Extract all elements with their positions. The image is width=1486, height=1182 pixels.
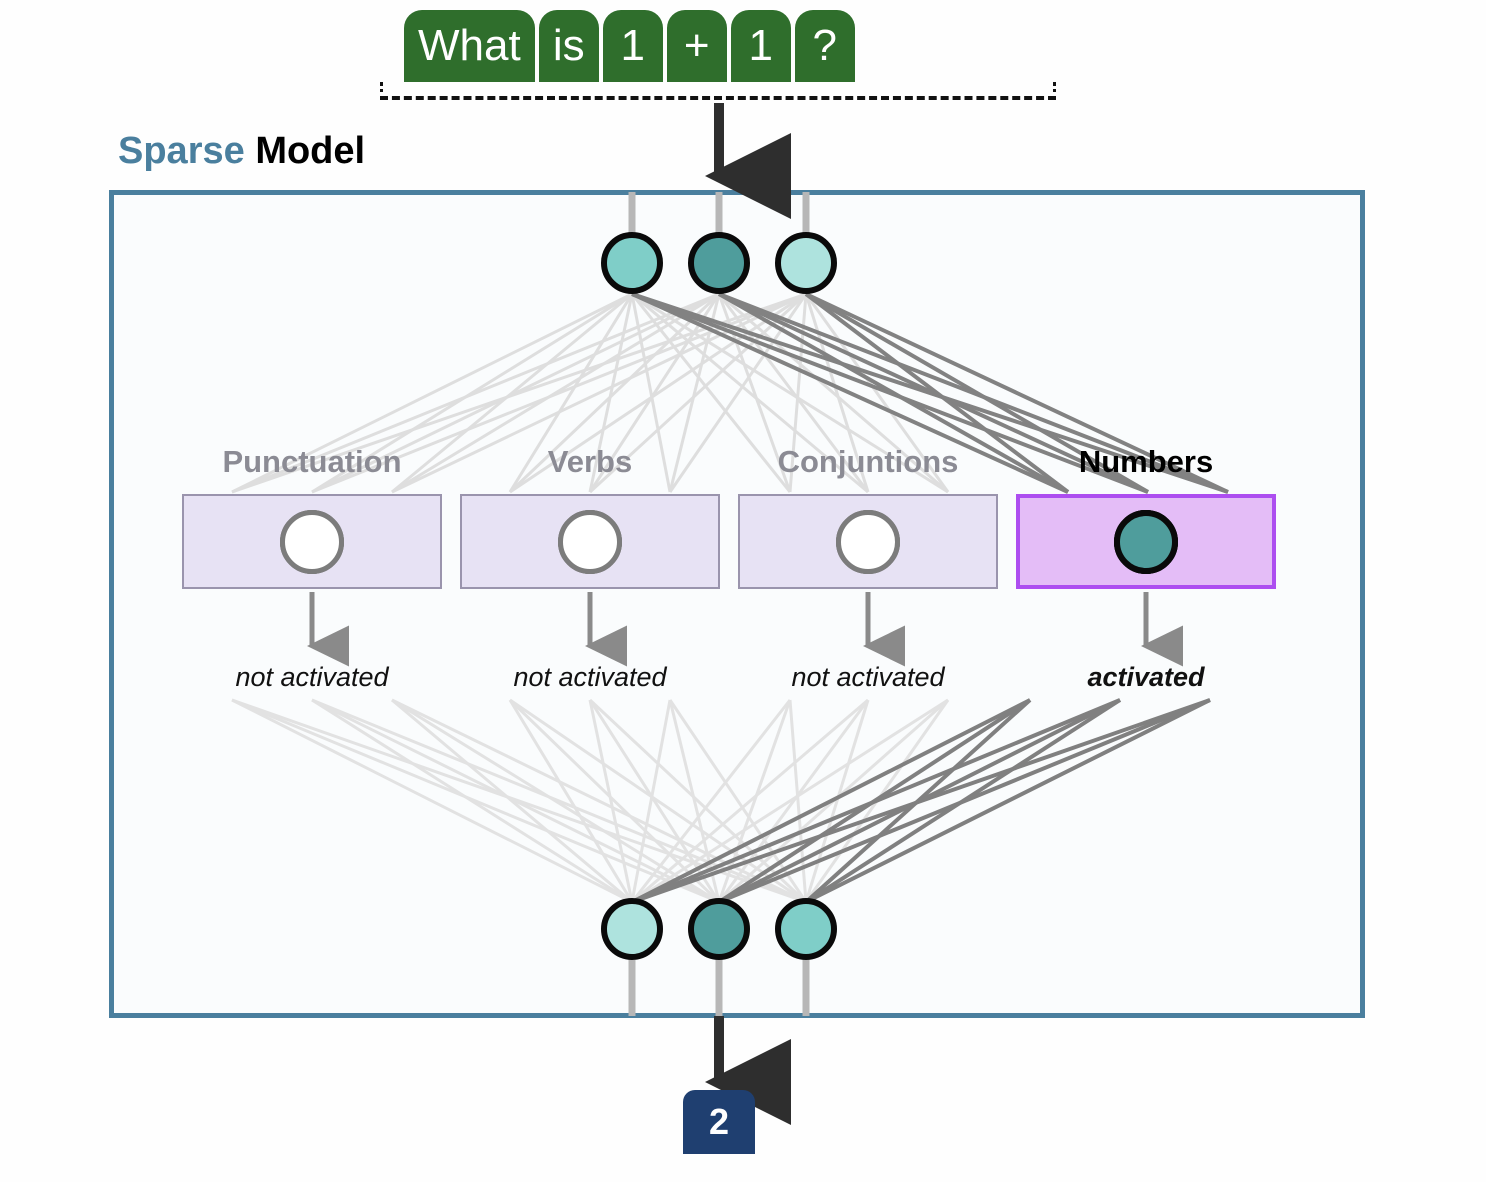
expert-status-conjuntions: not activated (738, 664, 998, 691)
title-plain-word: Model (255, 130, 365, 172)
input-neuron (775, 232, 837, 294)
expert-group-box-punctuation[interactable] (182, 494, 442, 589)
output-token: 2 (683, 1090, 755, 1154)
input-token-row: What is 1 + 1 ? (404, 10, 855, 82)
input-token: 1 (731, 10, 791, 82)
input-token: What (404, 10, 535, 82)
input-neuron (601, 232, 663, 294)
input-token: is (539, 10, 599, 82)
input-neuron (688, 232, 750, 294)
expert-group-box-conjuntions[interactable] (738, 494, 998, 589)
diagram-canvas: What is 1 + 1 ? Sparse Model (0, 0, 1486, 1182)
input-token: ? (795, 10, 855, 82)
output-neuron (775, 898, 837, 960)
expert-status-verbs: not activated (460, 664, 720, 691)
expert-status-numbers: activated (1016, 664, 1276, 691)
input-sequence-bracket (380, 82, 1056, 100)
expert-group-label-conjuntions: Conjuntions (738, 446, 998, 477)
expert-group-label-verbs: Verbs (460, 446, 720, 477)
expert-neuron (558, 510, 622, 574)
page-title: Sparse Model (118, 131, 365, 173)
output-neuron (688, 898, 750, 960)
expert-neuron (280, 510, 344, 574)
expert-group-label-punctuation: Punctuation (182, 446, 442, 477)
input-token: 1 (603, 10, 663, 82)
expert-group-label-numbers: Numbers (1016, 446, 1276, 477)
expert-neuron (1114, 510, 1178, 574)
output-neuron (601, 898, 663, 960)
expert-group-box-numbers[interactable] (1016, 494, 1276, 589)
expert-neuron (836, 510, 900, 574)
model-container (109, 190, 1365, 1018)
input-token: + (667, 10, 727, 82)
title-accent-word: Sparse (118, 130, 245, 172)
expert-group-box-verbs[interactable] (460, 494, 720, 589)
expert-status-punctuation: not activated (182, 664, 442, 691)
